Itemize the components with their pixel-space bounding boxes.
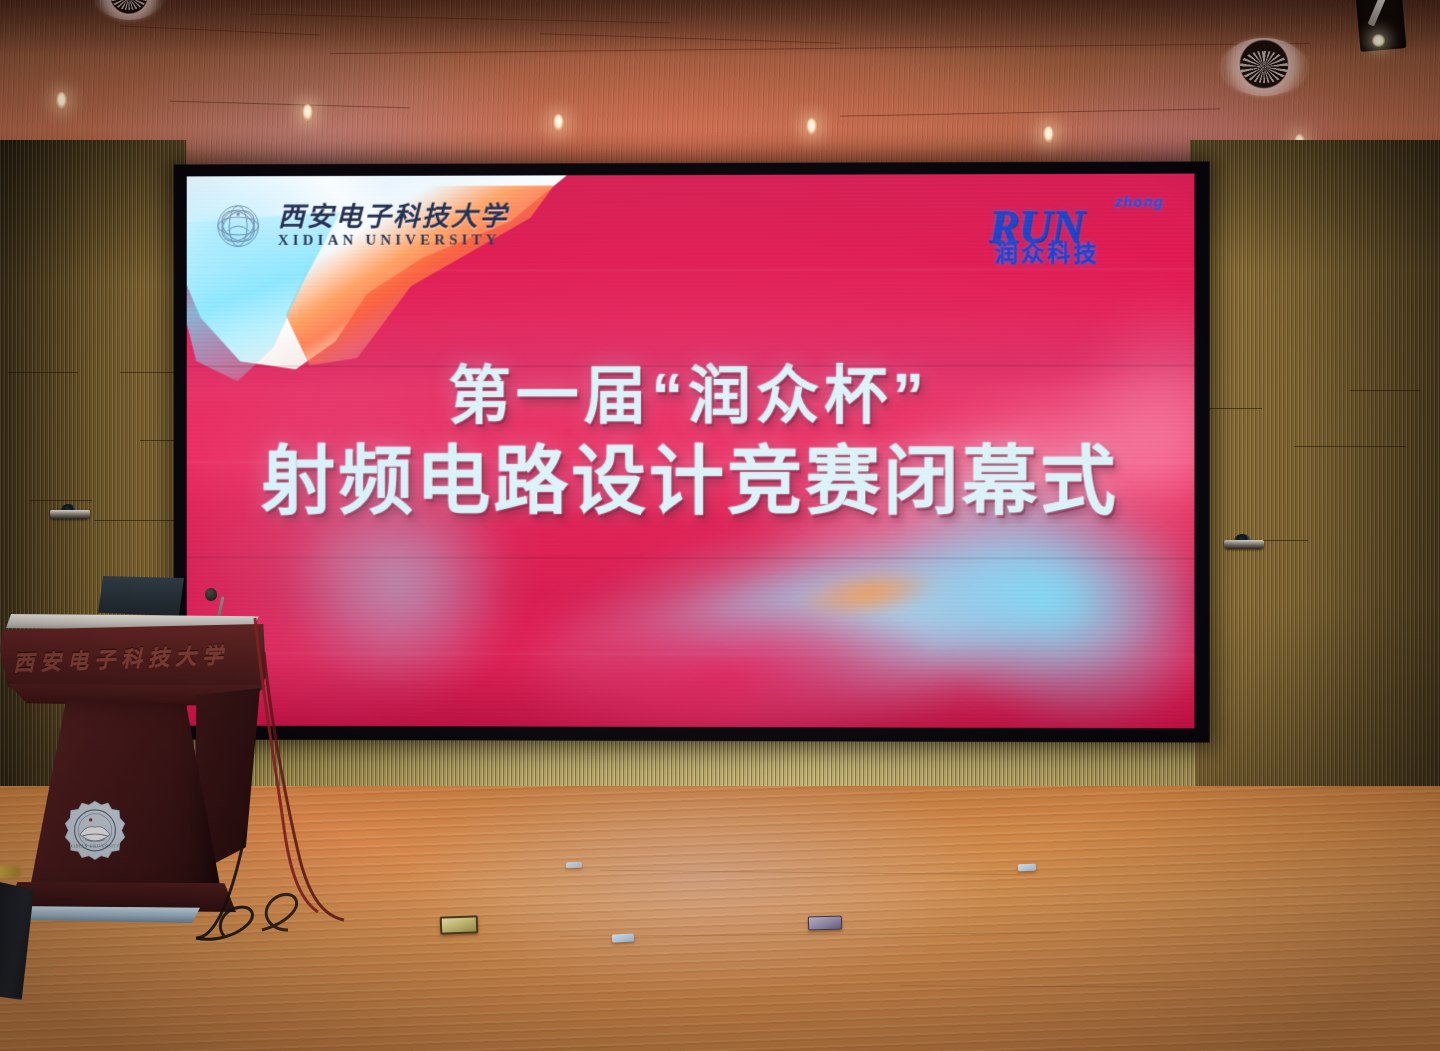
ceiling-downlight (56, 92, 67, 109)
ceiling-downlight (806, 118, 817, 135)
ceiling-vent (1222, 38, 1306, 96)
svg-text:XIDIAN UNIVERSITY: XIDIAN UNIVERSITY (70, 844, 120, 849)
right-wall (1190, 140, 1440, 800)
lectern-front-face (22, 700, 222, 896)
presenter-laptop (98, 576, 184, 616)
camera-mount (1224, 540, 1264, 549)
floor-outlet-box (440, 915, 479, 934)
wall-seam (94, 520, 182, 521)
track-light-arm (1368, 0, 1386, 27)
wall-seam (1350, 390, 1420, 391)
wall-camera-right (1224, 534, 1264, 549)
led-scanline-texture (187, 174, 1195, 729)
lectern: 西安电子科技大学 XIDIAN UNIVERSITY (0, 614, 270, 944)
wall-camera-left (50, 504, 90, 519)
floor-outlet-box (808, 916, 842, 931)
floor-outlet-box (1018, 864, 1036, 872)
ceiling-downlight (302, 104, 313, 121)
foreground-object-accent (0, 866, 20, 878)
floor-debris (566, 862, 582, 869)
wall-seam (120, 372, 182, 373)
wall-seam (30, 500, 92, 501)
photo-scene: 西安电子科技大学 XIDIAN UNIVERSITY RUN zhong 润众科… (0, 0, 1440, 1051)
floor-outlet-box (612, 933, 634, 942)
lectern-emblem-icon: XIDIAN UNIVERSITY (64, 800, 126, 862)
camera-mount (50, 510, 90, 519)
lectern-carved-text: 西安电子科技大学 (13, 639, 230, 677)
wall-slat-texture (1190, 140, 1440, 800)
ceiling-downlight (1043, 126, 1054, 143)
wall-seam (8, 372, 78, 373)
ceiling-downlight (553, 114, 564, 131)
wall-seam (1294, 446, 1406, 447)
microphone-head-icon (205, 588, 217, 601)
led-screen: 西安电子科技大学 XIDIAN UNIVERSITY RUN zhong 润众科… (187, 174, 1195, 729)
track-light (1372, 34, 1385, 47)
led-screen-bezel: 西安电子科技大学 XIDIAN UNIVERSITY RUN zhong 润众科… (174, 161, 1210, 742)
